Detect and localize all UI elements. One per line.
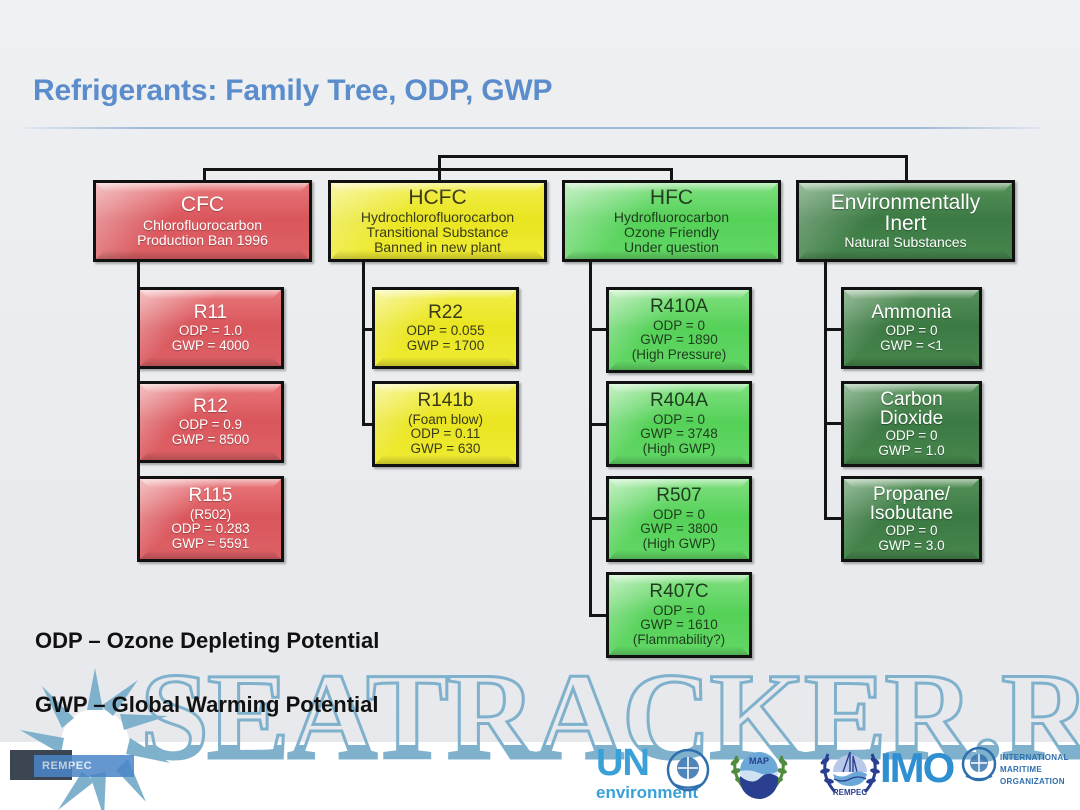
node-hcfc-line-1: Hydrochlorofluorocarbon [361, 210, 514, 225]
node-propane-isobutane-gwp: GWP = 3.0 [878, 539, 944, 554]
imo-logo-word: IMO [880, 744, 953, 792]
node-r22-header: R22 [428, 303, 463, 324]
node-r12-odp: ODP = 0.9 [179, 418, 242, 433]
node-r11[interactable]: R11 ODP = 1.0 GWP = 4000 [137, 287, 284, 369]
node-inert[interactable]: Environmentally Inert Natural Substances [796, 180, 1015, 262]
node-cfc[interactable]: CFC Chlorofluorocarbon Production Ban 19… [93, 180, 312, 262]
node-r141b-odp: ODP = 0.11 [411, 427, 481, 442]
imo-emblem-icon [957, 742, 1001, 786]
node-carbon-dioxide-gwp: GWP = 1.0 [878, 444, 944, 459]
node-carbon-dioxide-odp: ODP = 0 [886, 429, 938, 444]
legend-gwp: GWP – Global Warming Potential [35, 692, 378, 718]
map-logo-icon: MAP [723, 742, 795, 804]
node-propane-isobutane-header: Propane/ Isobutane [852, 485, 972, 524]
node-propane-isobutane[interactable]: Propane/ Isobutane ODP = 0 GWP = 3.0 [841, 476, 982, 562]
node-r11-odp: ODP = 1.0 [179, 324, 242, 339]
spine-inert [824, 262, 827, 520]
node-r12-header: R12 [193, 397, 228, 418]
node-hfc-header: HFC [650, 187, 693, 210]
spine-hcfc [362, 262, 365, 426]
node-hcfc-line-2: Transitional Substance [367, 225, 509, 240]
node-r410a-odp: ODP = 0 [653, 319, 705, 334]
spine-hfc [589, 262, 592, 617]
node-r410a[interactable]: R410A ODP = 0 GWP = 1890 (High Pressure) [606, 287, 752, 373]
node-r22[interactable]: R22 ODP = 0.055 GWP = 1700 [372, 287, 519, 369]
node-r141b-header: R141b [418, 391, 474, 412]
node-r507-gwp: GWP = 3800 [640, 522, 717, 537]
node-carbon-dioxide[interactable]: Carbon Dioxide ODP = 0 GWP = 1.0 [841, 381, 982, 467]
slide-canvas: SEATRACKER.RU SEATRACKER.RU Refrigerants… [0, 0, 1080, 810]
node-hcfc-header: HCFC [408, 187, 466, 210]
node-hfc-line-2: Ozone Friendly [624, 225, 719, 240]
connector-drop-inert [905, 155, 908, 182]
node-cfc-line-1: Chlorofluorocarbon [143, 218, 262, 233]
imo-name-line-3: ORGANIZATION [1000, 776, 1069, 788]
node-r115-header: R115 [188, 486, 232, 507]
node-ammonia-header: Ammonia [871, 303, 951, 324]
node-r407c-gwp: GWP = 1610 [640, 618, 717, 633]
node-r507[interactable]: R507 ODP = 0 GWP = 3800 (High GWP) [606, 476, 752, 562]
node-r11-header: R11 [194, 303, 227, 324]
node-ammonia-gwp: GWP = <1 [880, 339, 943, 354]
imo-name-line-1: INTERNATIONAL [1000, 752, 1069, 764]
node-r404a-note: (High GWP) [643, 442, 716, 457]
node-r115-alias: (R502) [190, 508, 231, 523]
node-r404a[interactable]: R404A ODP = 0 GWP = 3748 (High GWP) [606, 381, 752, 467]
node-r141b[interactable]: R141b (Foam blow) ODP = 0.11 GWP = 630 [372, 381, 519, 467]
node-r12[interactable]: R12 ODP = 0.9 GWP = 8500 [137, 381, 284, 463]
rempec-seal-icon: REMPEC [812, 742, 888, 806]
node-propane-isobutane-odp: ODP = 0 [886, 524, 938, 539]
node-hfc-line-1: Hydrofluorocarbon [614, 210, 729, 225]
node-r407c-header: R407C [649, 582, 708, 603]
rempec-chip-label: REMPEC [34, 755, 134, 777]
node-ammonia-odp: ODP = 0 [886, 324, 938, 339]
node-r12-gwp: GWP = 8500 [172, 433, 249, 448]
node-inert-header: Environmentally Inert [816, 192, 996, 235]
node-r115[interactable]: R115 (R502) ODP = 0.283 GWP = 5591 [137, 476, 284, 562]
legend-odp: ODP – Ozone Depleting Potential [35, 628, 379, 654]
node-cfc-header: CFC [181, 194, 224, 217]
rempec-seal-label: REMPEC [833, 788, 867, 797]
node-r404a-header: R404A [650, 391, 708, 412]
un-emblem-icon [660, 742, 716, 798]
connector-rail-lower [203, 168, 673, 171]
node-r11-gwp: GWP = 4000 [172, 339, 249, 354]
node-hcfc[interactable]: HCFC Hydrochlorofluorocarbon Transitiona… [328, 180, 547, 262]
un-logo-word: UN [596, 742, 649, 784]
node-r507-odp: ODP = 0 [653, 508, 705, 523]
node-carbon-dioxide-header: Carbon Dioxide [859, 390, 964, 429]
node-r407c-note: (Flammability?) [633, 633, 725, 648]
page-title: Refrigerants: Family Tree, ODP, GWP [33, 74, 552, 108]
node-r141b-note: (Foam blow) [408, 413, 483, 428]
node-r404a-gwp: GWP = 3748 [640, 427, 717, 442]
imo-full-name: INTERNATIONAL MARITIME ORGANIZATION [1000, 752, 1069, 788]
title-divider [25, 127, 1040, 129]
node-r407c[interactable]: R407C ODP = 0 GWP = 1610 (Flammability?) [606, 572, 752, 658]
node-r115-odp: ODP = 0.283 [171, 522, 249, 537]
map-label: MAP [749, 756, 769, 766]
node-cfc-line-2: Production Ban 1996 [137, 233, 268, 248]
node-r22-gwp: GWP = 1700 [407, 339, 484, 354]
node-r404a-odp: ODP = 0 [653, 413, 705, 428]
node-r22-odp: ODP = 0.055 [406, 324, 484, 339]
node-r410a-gwp: GWP = 1890 [640, 333, 717, 348]
node-inert-line-1: Natural Substances [844, 235, 966, 250]
node-r410a-note: (High Pressure) [632, 348, 727, 363]
node-r141b-gwp: GWP = 630 [411, 442, 481, 457]
node-r115-gwp: GWP = 5591 [172, 537, 249, 552]
connector-rail-upper [438, 155, 908, 158]
node-hfc-line-3: Under question [624, 240, 719, 255]
imo-name-line-2: MARITIME [1000, 764, 1069, 776]
node-r507-header: R507 [656, 486, 701, 507]
node-hfc[interactable]: HFC Hydrofluorocarbon Ozone Friendly Und… [562, 180, 781, 262]
node-ammonia[interactable]: Ammonia ODP = 0 GWP = <1 [841, 287, 982, 369]
node-r410a-header: R410A [650, 297, 708, 318]
node-r507-note: (High GWP) [643, 537, 716, 552]
node-r407c-odp: ODP = 0 [653, 604, 705, 619]
node-hcfc-line-3: Banned in new plant [374, 240, 501, 255]
